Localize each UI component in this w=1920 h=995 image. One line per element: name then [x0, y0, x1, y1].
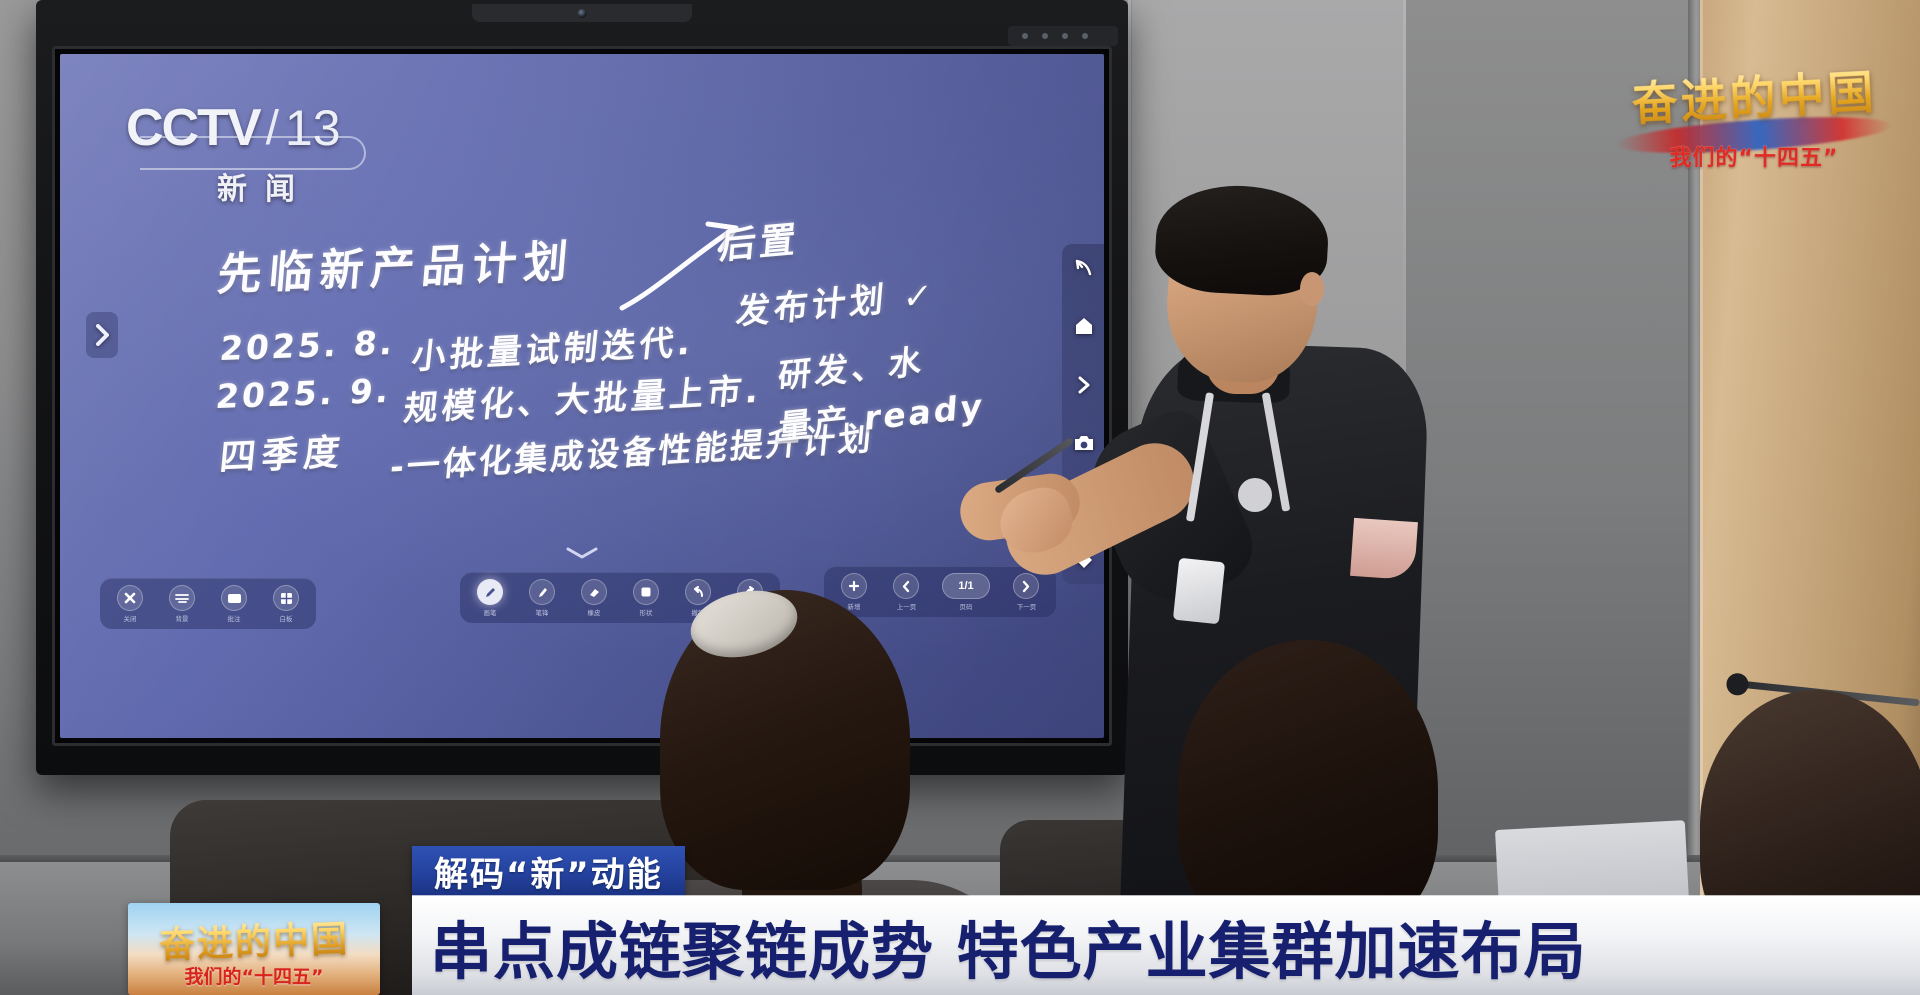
smart-board: CCTV / 13 新闻 先临新产品计划 2025. 8. 2025. 9. 四… — [36, 0, 1128, 775]
chevron-right-icon[interactable] — [86, 312, 118, 358]
page-indicator: 1/1 页码 — [938, 573, 994, 612]
toolbar-label: 白板 — [280, 614, 293, 623]
shape-icon — [633, 579, 659, 605]
chevron-down-icon[interactable] — [565, 546, 599, 565]
camera-icon[interactable] — [1070, 429, 1098, 457]
board-page-toolbar[interactable]: 新增 上一页 1/1 页码 下一页 — [824, 566, 1056, 617]
badge-title: 奋进的中国 — [128, 909, 380, 970]
toolbar-button-pen[interactable]: 画笔 — [470, 579, 510, 618]
page-indicator-value: 1/1 — [942, 573, 990, 599]
close-icon — [117, 585, 143, 611]
board-status-strip — [1008, 26, 1118, 46]
toolbar-button-shape[interactable]: 形状 — [626, 579, 666, 618]
toolbar-label: 关闭 — [124, 614, 137, 623]
toolbar-label: 批注 — [228, 614, 241, 623]
grid-icon — [273, 585, 299, 611]
whiteboard-note-0: 后置 — [718, 210, 802, 270]
next-page-icon — [1013, 573, 1039, 599]
lower-third-kicker: 解码“新”动能 — [412, 846, 685, 896]
wall-right-section — [1405, 0, 1695, 880]
toolbar-label: 下一页 — [1016, 602, 1035, 611]
headline-text: 串点成链聚链成势 特色产业集群加速布局 — [430, 901, 1587, 991]
home-icon[interactable] — [1070, 312, 1098, 340]
whiteboard-row-date-1: 2025. 9. — [214, 371, 393, 416]
toolbar-label: 页码 — [960, 602, 973, 611]
toolbar-button-marker[interactable]: 笔锋 — [522, 579, 562, 618]
toolbar-label: 形状 — [640, 608, 653, 617]
toolbar-label: 橡皮 — [588, 608, 601, 617]
id-badge — [1173, 558, 1225, 624]
whiteboard-row-date-2: 四季度 — [218, 423, 349, 481]
pen-icon — [477, 579, 503, 605]
add-page-icon — [841, 573, 867, 599]
chevron-right-icon[interactable] — [1070, 371, 1098, 399]
board-camera — [472, 4, 692, 22]
toolbar-button-close[interactable]: 关闭 — [110, 585, 150, 624]
program-badge: 奋进的中国 我们的“十四五” — [128, 903, 380, 995]
eraser-icon — [581, 579, 607, 605]
prev-page-icon — [893, 573, 919, 599]
shirt-logo — [1238, 478, 1272, 512]
kicker-text: 解码“新”动能 — [434, 847, 663, 896]
whiteboard-row-date-0: 2025. 8. — [218, 323, 397, 368]
toolbar-label: 背景 — [176, 614, 189, 623]
toolbar-label: 画笔 — [484, 608, 497, 617]
board-left-toolbar[interactable]: 关闭 背景 批注 白板 — [100, 578, 316, 629]
lower-third-headline: 串点成链聚链成势 特色产业集群加速布局 — [412, 896, 1920, 995]
toolbar-button-whiteboard[interactable]: 白板 — [266, 585, 306, 624]
toolbar-label: 上一页 — [896, 602, 915, 611]
undo-icon — [685, 579, 711, 605]
next-page-button[interactable]: 下一页 — [1006, 573, 1046, 612]
badge-subtitle: 我们的“十四五” — [128, 962, 380, 989]
layers-icon — [169, 585, 195, 611]
window-icon — [221, 585, 247, 611]
toolbar-button-background[interactable]: 背景 — [162, 585, 202, 624]
screenshot-root: CCTV / 13 新闻 先临新产品计划 2025. 8. 2025. 9. 四… — [0, 0, 1920, 995]
toolbar-label: 新增 — [848, 602, 861, 611]
prev-page-button[interactable]: 上一页 — [886, 573, 926, 612]
toolbar-button-eraser[interactable]: 橡皮 — [574, 579, 614, 618]
marker-icon — [529, 579, 555, 605]
back-arrow-icon[interactable] — [1070, 254, 1098, 282]
toolbar-label: 笔锋 — [536, 608, 549, 617]
toolbar-button-annotate[interactable]: 批注 — [214, 585, 254, 624]
whiteboard-screen[interactable]: CCTV / 13 新闻 先临新产品计划 2025. 8. 2025. 9. 四… — [60, 54, 1104, 738]
